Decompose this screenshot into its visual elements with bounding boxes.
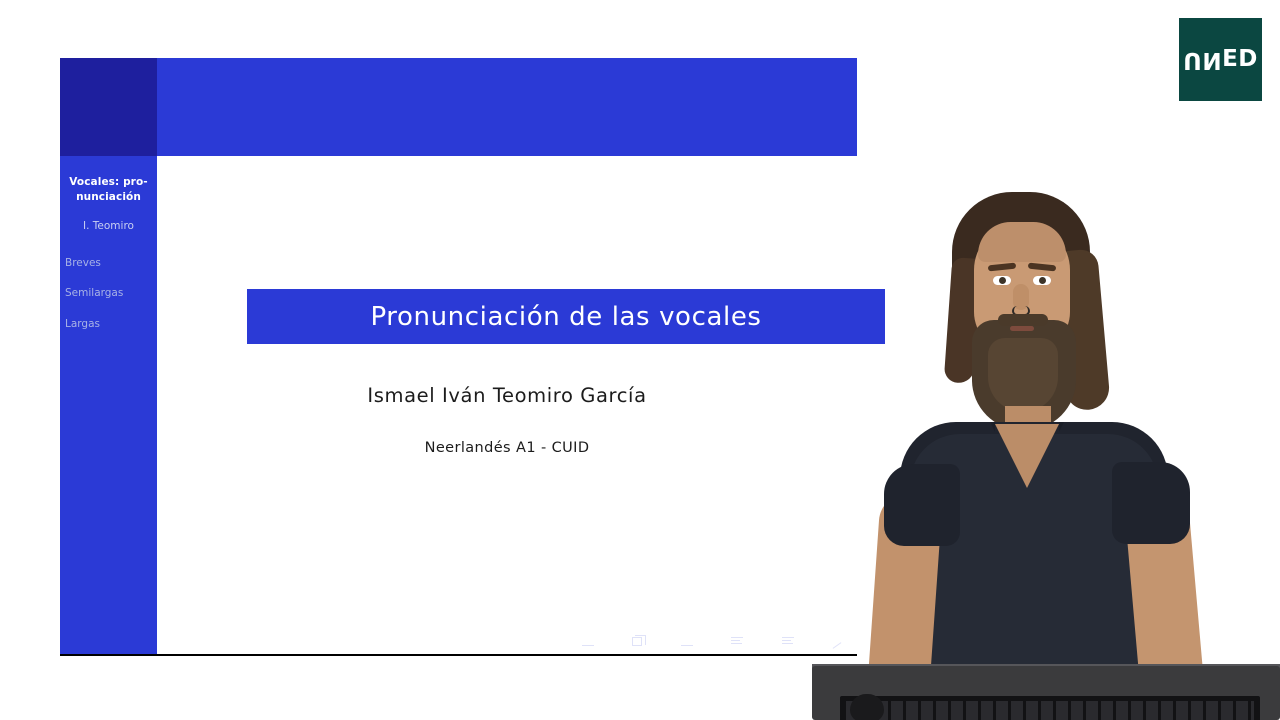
presenter-shirt-shading bbox=[910, 434, 1158, 720]
uned-logo-letter-u: U bbox=[1183, 48, 1202, 71]
presenter-eyebrow-left bbox=[988, 263, 1016, 272]
section-symbol-icon[interactable] bbox=[731, 637, 743, 648]
sidebar-item-semilargas[interactable]: Semilargas bbox=[65, 286, 157, 301]
presenter-hand-left bbox=[818, 678, 880, 718]
presenter-eye-right bbox=[1033, 276, 1051, 285]
presenter-arm-right bbox=[1123, 488, 1205, 699]
frame-symbol-icon[interactable] bbox=[632, 637, 642, 648]
page-title: Pronunciación de las vocales bbox=[370, 302, 761, 332]
presenter-shirt bbox=[900, 422, 1168, 720]
sidebar-nav: Breves Semilargas Largas bbox=[60, 256, 157, 332]
back-symbol-icon[interactable] bbox=[832, 637, 842, 648]
presenter-nose-ring bbox=[1012, 306, 1030, 316]
sidebar-item-breves[interactable]: Breves bbox=[65, 256, 157, 271]
uned-logo: UNED bbox=[1179, 18, 1262, 101]
presenter-moustache bbox=[998, 314, 1048, 326]
presenter-pupil-right bbox=[1039, 277, 1046, 284]
presenter-arm-left bbox=[867, 492, 943, 694]
slide-author: Ismael Iván Teomiro García bbox=[157, 384, 857, 407]
subsection-symbol-icon[interactable] bbox=[681, 637, 693, 648]
desk-surface bbox=[812, 664, 1280, 676]
presentation-symbol-icon[interactable] bbox=[782, 637, 794, 648]
presenter-beard-highlight bbox=[988, 338, 1058, 412]
presenter-eyebrow-right bbox=[1028, 263, 1056, 272]
presenter-face bbox=[974, 224, 1070, 352]
presenter-hand-right bbox=[1164, 674, 1230, 716]
uned-logo-letter-n: N bbox=[1202, 48, 1222, 71]
slide-title-box: Pronunciación de las vocales bbox=[247, 289, 885, 344]
presenter-collar bbox=[995, 424, 1059, 488]
sidebar-title: Vocales: pro- nunciación bbox=[60, 175, 157, 205]
presenter-hair-left bbox=[944, 257, 983, 384]
presenter-collar-edge bbox=[990, 422, 1064, 494]
presenter-sleeve-right bbox=[1112, 462, 1190, 544]
presenter-hair bbox=[952, 192, 1090, 360]
presenter-nose bbox=[1013, 284, 1029, 310]
mouse bbox=[850, 694, 884, 720]
desk-front bbox=[812, 666, 1280, 720]
keyboard-keys bbox=[846, 701, 1254, 720]
sidebar-title-line-1: Vocales: pro- bbox=[63, 175, 154, 190]
presenter-sleeve-left bbox=[884, 464, 960, 546]
presenter-video bbox=[812, 178, 1280, 720]
uned-logo-text: UNED bbox=[1183, 48, 1258, 71]
presenter-neck bbox=[1005, 406, 1051, 452]
slide-body: Pronunciación de las vocales Ismael Iván… bbox=[157, 156, 857, 654]
uned-logo-letter-d: D bbox=[1238, 48, 1258, 71]
presenter-eye-left bbox=[993, 276, 1011, 285]
presenter-hair-right bbox=[1053, 248, 1111, 411]
sidebar-title-line-2: nunciación bbox=[63, 190, 154, 205]
presenter-forehead bbox=[978, 222, 1066, 262]
slide-header-block bbox=[60, 58, 157, 156]
slide-course: Neerlandés A1 - CUID bbox=[157, 440, 857, 456]
slide-header-bar bbox=[157, 58, 857, 156]
beamer-navigation-bar[interactable] bbox=[582, 633, 842, 651]
presenter-pupil-left bbox=[999, 277, 1006, 284]
uned-logo-letter-e: E bbox=[1222, 48, 1238, 71]
slide-sidebar: Vocales: pro- nunciación I. Teomiro Brev… bbox=[60, 156, 157, 654]
presentation-slide: Vocales: pro- nunciación I. Teomiro Brev… bbox=[60, 58, 857, 656]
keyboard bbox=[840, 696, 1260, 720]
sidebar-item-largas[interactable]: Largas bbox=[65, 317, 157, 332]
sidebar-author: I. Teomiro bbox=[60, 219, 157, 234]
slide-prev-symbol-icon[interactable] bbox=[582, 637, 594, 648]
presenter-beard bbox=[972, 320, 1076, 430]
presenter-mouth bbox=[1010, 326, 1034, 331]
